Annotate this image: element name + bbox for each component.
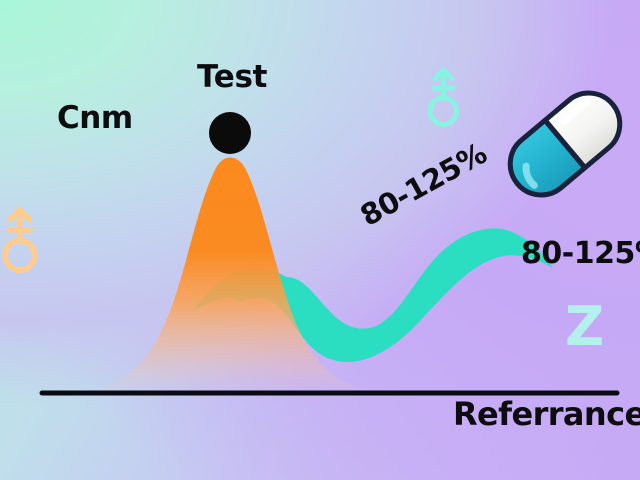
- cmax-label: Cnm: [57, 103, 133, 134]
- bioequivalence-range-label-right: 80-125%: [521, 239, 640, 269]
- illustration-canvas: ⚨ ⚨ Z: [0, 0, 640, 480]
- test-label: Test: [197, 62, 267, 93]
- capsule-pill-icon: [498, 80, 633, 207]
- cmax-marker-dot: [209, 112, 251, 154]
- reference-label: Referrance: [453, 398, 640, 430]
